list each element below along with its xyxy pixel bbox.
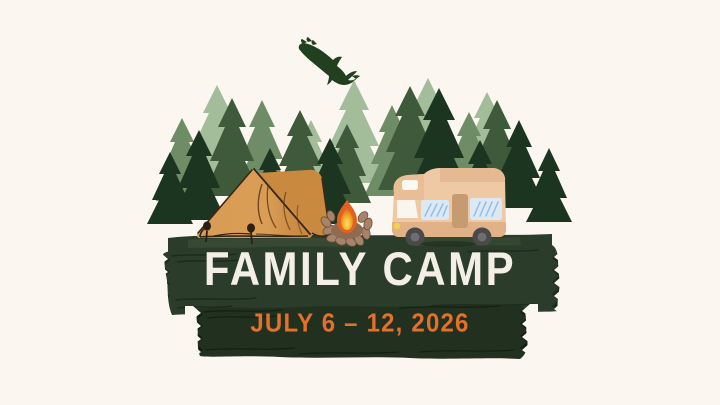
camp-illustration [0, 0, 720, 405]
date-banner [185, 304, 538, 370]
rv-camper [392, 168, 506, 247]
family-camp-poster: FAMILY CAMP JULY 6 – 12, 2026 [0, 0, 720, 405]
eagle-silhouette [299, 37, 360, 85]
